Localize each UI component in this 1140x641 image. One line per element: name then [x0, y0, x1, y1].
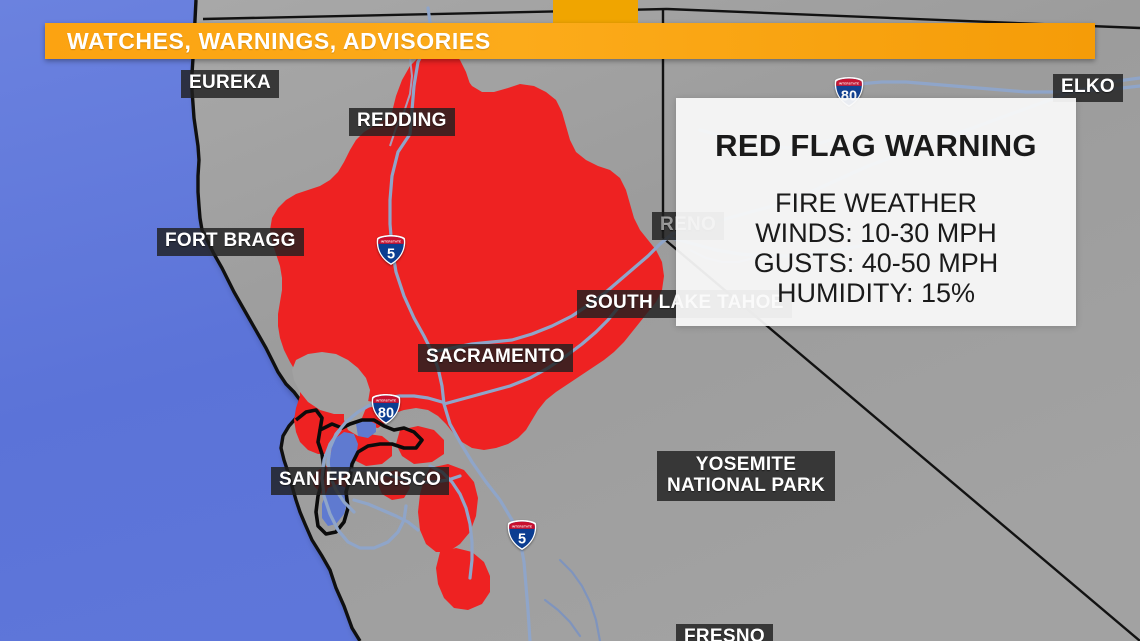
city-label-text: ELKO — [1061, 76, 1115, 97]
city-label-text-line1: YOSEMITE — [667, 455, 825, 476]
panel-details: FIRE WEATHER WINDS: 10-30 MPH GUSTS: 40-… — [754, 188, 999, 308]
city-label-redding: REDDING — [349, 108, 455, 136]
svg-text:5: 5 — [518, 532, 526, 548]
svg-text:INTERSTATE: INTERSTATE — [512, 525, 532, 529]
interstate-shield-5-south: INTERSTATE 5 — [505, 518, 539, 552]
panel-line-winds: WINDS: 10-30 MPH — [755, 218, 997, 248]
svg-text:INTERSTATE: INTERSTATE — [376, 399, 396, 403]
banner-title: WATCHES, WARNINGS, ADVISORIES — [67, 28, 491, 55]
city-label-text: REDDING — [357, 110, 447, 131]
svg-text:5: 5 — [387, 247, 395, 263]
city-label-yosemite-national-park: YOSEMITE NATIONAL PARK — [657, 451, 835, 501]
city-label-fort-bragg: FORT BRAGG — [157, 228, 304, 256]
city-label-san-francisco: SAN FRANCISCO — [271, 467, 449, 495]
interstate-shield-5-north: INTERSTATE 5 — [374, 233, 408, 267]
city-label-text-line2: NATIONAL PARK — [667, 476, 825, 497]
city-label-sacramento: SACRAMENTO — [418, 344, 573, 372]
city-label-text: FRESNO — [684, 626, 765, 641]
svg-text:INTERSTATE: INTERSTATE — [839, 82, 859, 86]
banner-tab-accent — [553, 0, 638, 23]
city-label-text: SAN FRANCISCO — [279, 469, 441, 490]
city-label-fresno: FRESNO — [676, 624, 773, 641]
city-label-text: EUREKA — [189, 72, 271, 93]
panel-line-fire-weather: FIRE WEATHER — [775, 188, 977, 218]
panel-line-humidity: HUMIDITY: 15% — [777, 278, 975, 308]
city-label-text: FORT BRAGG — [165, 230, 296, 251]
panel-line-gusts: GUSTS: 40-50 MPH — [754, 248, 999, 278]
svg-text:80: 80 — [378, 406, 394, 422]
red-flag-warning-panel: RED FLAG WARNING FIRE WEATHER WINDS: 10-… — [676, 98, 1076, 326]
svg-text:INTERSTATE: INTERSTATE — [381, 240, 401, 244]
panel-title: RED FLAG WARNING — [715, 128, 1037, 164]
weather-map-screenshot: WATCHES, WARNINGS, ADVISORIES EUREKA RED… — [0, 0, 1140, 641]
city-label-eureka: EUREKA — [181, 70, 279, 98]
header-banner: WATCHES, WARNINGS, ADVISORIES — [45, 23, 1095, 59]
city-label-text: SACRAMENTO — [426, 346, 565, 367]
interstate-shield-80-bay: INTERSTATE 80 — [369, 392, 403, 426]
